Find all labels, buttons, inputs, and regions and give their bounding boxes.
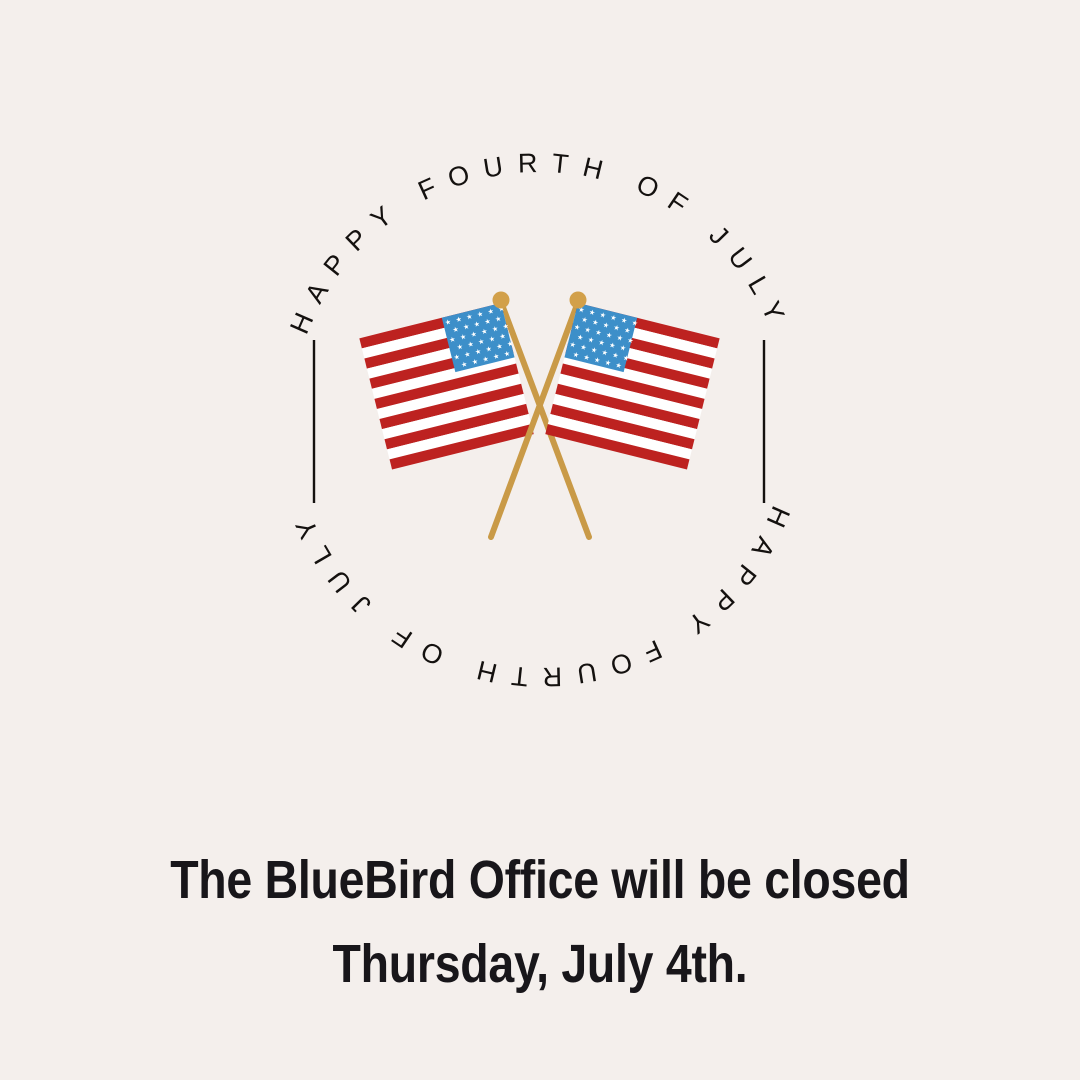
holiday-emblem: HAPPY FOURTH OF JULY HAPPY FOURTH OF JUL…: [0, 0, 1080, 700]
emblem-graphic: HAPPY FOURTH OF JULY HAPPY FOURTH OF JUL…: [0, 0, 1080, 700]
flag-finial-right: [570, 292, 587, 309]
flag-finial-left: [493, 292, 510, 309]
closure-message: The BlueBird Office will be closed Thurs…: [0, 838, 1080, 1006]
poster-canvas: HAPPY FOURTH OF JULY HAPPY FOURTH OF JUL…: [0, 0, 1080, 1080]
arc-text-top: HAPPY FOURTH OF JULY: [284, 148, 796, 338]
closure-message-line-2: Thursday, July 4th.: [76, 922, 1005, 1006]
flag-cloth-left: ★★★★★★ ★★★★★ ★★★★★★ ★★★★★ ★★★★★★ ★★★★★: [359, 302, 535, 469]
crossed-flags-illustration: ★★★★★★ ★★★★★ ★★★★★★ ★★★★★ ★★★★★★ ★★★★★: [359, 292, 719, 538]
closure-message-line-1: The BlueBird Office will be closed: [76, 838, 1005, 922]
arc-text-bottom: HAPPY FOURTH OF JULY: [284, 502, 796, 692]
